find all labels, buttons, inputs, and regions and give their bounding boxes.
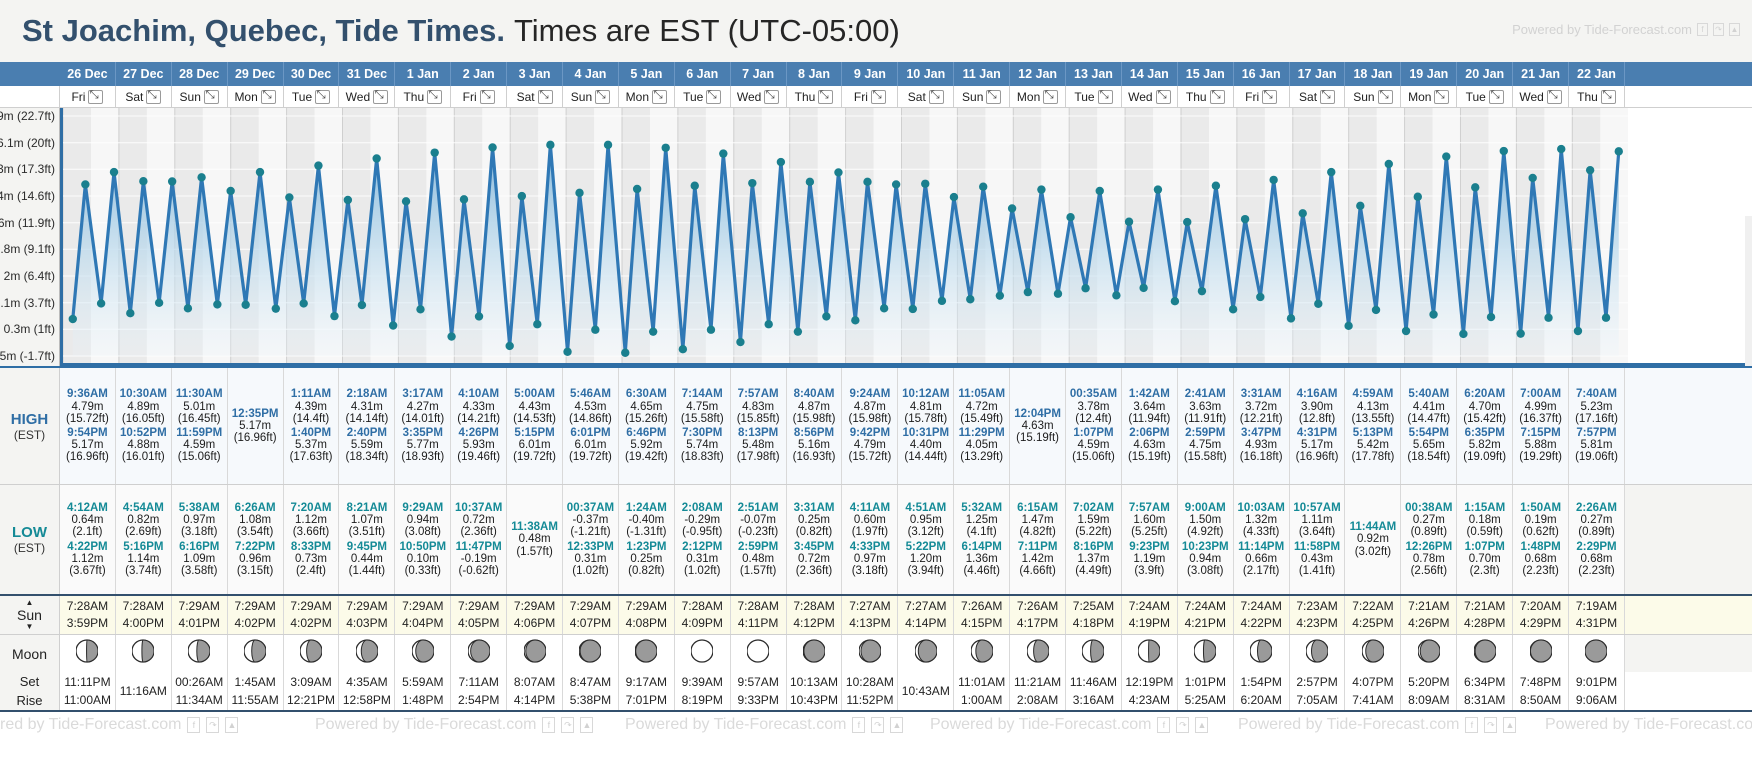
moonrise-time: 7:41AM (1352, 691, 1393, 709)
sun-times-cell: 7:21AM4:26PM (1401, 596, 1457, 634)
date-header-cell[interactable]: 21 Jan (1513, 62, 1569, 86)
date-header-cell[interactable]: 12 Jan (1010, 62, 1066, 86)
low-tide-label: LOW (12, 524, 47, 541)
low-tide-time: 3:31AM (794, 502, 835, 514)
alert-icon[interactable]: ▲ (1195, 717, 1208, 733)
low-tide-height-ft: (0.89ft) (1411, 526, 1447, 538)
date-header-cell[interactable]: 2 Jan (451, 62, 507, 86)
sunrise-time: 7:29AM (514, 598, 555, 615)
low-tide-height-m: 0.94m (407, 514, 439, 526)
date-header-cell[interactable]: 31 Dec (339, 62, 395, 86)
high-tide-height-m: 5.65m (1413, 439, 1445, 451)
high-tide-height-m: 5.82m (1469, 439, 1501, 451)
expand-icon[interactable] (146, 90, 161, 104)
high-tide-cell: 7:57AM4.83m(15.85ft)8:13PM5.48m(17.98ft) (731, 368, 787, 484)
sunset-time: 4:13PM (849, 615, 890, 632)
low-tide-time: 4:54AM (123, 502, 164, 514)
moonrise-time: 10:43PM (790, 691, 838, 709)
expand-icon[interactable] (1547, 90, 1562, 104)
facebook-icon[interactable]: f (1157, 717, 1170, 733)
set-rise-row-labels: Set Rise (0, 672, 60, 710)
high-tide-time: 7:30PM (682, 427, 722, 439)
day-of-week-cell: Tue (284, 86, 340, 107)
share-icon[interactable]: ↷ (871, 717, 884, 733)
moon-phase-icon (691, 638, 713, 669)
low-tide-event: 6:14PM1.36m(4.46ft) (962, 540, 1002, 579)
day-of-week-cell: Fri (1234, 86, 1290, 107)
sunset-time: 4:28PM (1464, 615, 1505, 632)
expand-icon[interactable] (818, 90, 833, 104)
moonrise-time: 8:09AM (1408, 691, 1449, 709)
y-axis-tick-label: 5.3m (17.3ft) (0, 162, 55, 176)
footer-watermark: Powered by Tide-Forecast.com f ↷ ▲ (625, 716, 903, 734)
high-tide-event: 3:47PM4.93m(16.18ft) (1240, 426, 1283, 465)
high-tide-event: 11:05AM4.72m(15.49ft) (958, 387, 1005, 426)
high-tide-height-m: 3.90m (1301, 401, 1333, 413)
share-icon[interactable]: ↷ (1176, 717, 1189, 733)
date-header-cell[interactable]: 30 Dec (284, 62, 340, 86)
high-tide-height-m: 4.39m (295, 401, 327, 413)
moon-phase-cell (731, 635, 787, 672)
high-tide-height-ft: (19.06ft) (1575, 451, 1618, 463)
low-tide-height-ft: (3.02ft) (1355, 546, 1391, 558)
low-tide-time: 6:16PM (179, 541, 219, 553)
low-tide-height-ft: (2.3ft) (1470, 565, 1500, 577)
sunrise-arrow-icon (26, 599, 34, 607)
high-tide-time: 12:04PM (1014, 408, 1061, 420)
expand-icon[interactable] (480, 90, 495, 104)
moonset-time: 5:59AM (402, 673, 443, 691)
y-axis-tick-label: 4.4m (14.6ft) (0, 189, 55, 203)
low-tide-time: 2:08AM (682, 502, 723, 514)
moon-phase-icon (244, 638, 266, 669)
low-tide-event: 00:37AM-0.37m(-1.21ft) (567, 501, 614, 540)
day-of-week-label: Thu (403, 90, 424, 104)
sun-times-cell: 7:25AM4:18PM (1066, 596, 1122, 634)
facebook-icon[interactable]: f (542, 717, 555, 733)
facebook-icon[interactable]: f (1697, 23, 1708, 36)
expand-icon[interactable] (261, 90, 276, 104)
day-of-week-cell: Sat (507, 86, 563, 107)
low-tide-height-m: 0.72m (463, 514, 495, 526)
moon-phase-cell (1569, 635, 1625, 672)
moon-phase-cell (1122, 635, 1178, 672)
moon-label: Moon (12, 646, 47, 662)
sunrise-time: 7:26AM (1017, 598, 1058, 615)
moon-phase-icon (300, 638, 322, 669)
expand-icon[interactable] (1262, 90, 1277, 104)
moonrise-time: 11:34AM (176, 691, 223, 709)
day-of-week-label: Sun (180, 90, 201, 104)
moon-phase-cell (619, 635, 675, 672)
high-tide-time: 9:36AM (67, 388, 108, 400)
low-tide-height-m: 0.95m (910, 514, 942, 526)
day-of-week-label: Wed (737, 90, 761, 104)
date-header-cell[interactable]: 15 Jan (1178, 62, 1234, 86)
sunset-time: 4:21PM (1185, 615, 1226, 632)
high-tide-height-m: 4.05m (966, 439, 998, 451)
high-tide-time: 10:31PM (902, 427, 949, 439)
moon-phase-cell (395, 635, 451, 672)
moon-phase-icon (1027, 638, 1049, 669)
day-of-week-cell: Wed (1122, 86, 1178, 107)
low-tide-event: 00:38AM0.27m(0.89ft) (1405, 501, 1452, 540)
expand-icon[interactable] (204, 90, 219, 104)
share-icon[interactable]: ↷ (1484, 717, 1497, 733)
moon-phase-icon (188, 638, 210, 669)
low-tide-height-m: 1.12m (71, 553, 103, 565)
high-tide-time: 2:41AM (1185, 388, 1226, 400)
day-of-week-cell: Thu (1178, 86, 1234, 107)
low-tide-cell: 6:15AM1.47m(4.82ft)7:11PM1.42m(4.66ft) (1010, 485, 1066, 594)
low-tide-event: 10:23PM0.94m(3.08ft) (1182, 540, 1229, 579)
low-tide-height-ft: (3.66ft) (293, 526, 329, 538)
high-tide-height-m: 4.75m (686, 401, 718, 413)
sunrise-time: 7:29AM (234, 598, 275, 615)
low-tide-height-m: 0.48m (742, 553, 774, 565)
low-tide-height-ft: (2.23ft) (1578, 565, 1614, 577)
low-tide-event: 11:44AM0.92m(3.02ft) (1350, 520, 1397, 559)
date-header-cell[interactable]: 14 Jan (1122, 62, 1178, 86)
low-tide-time: 11:58PM (1294, 541, 1340, 553)
sunset-time: 4:15PM (961, 615, 1002, 632)
high-tide-height-ft: (16.96ft) (234, 432, 277, 444)
low-tide-cell: 10:37AM0.72m(2.36ft)11:47PM-0.19m(-0.62f… (451, 485, 507, 594)
date-header-cell[interactable]: 10 Jan (898, 62, 954, 86)
alert-icon[interactable]: ▲ (225, 717, 238, 733)
moon-set-rise-cell: 1:01PM5:25AM (1178, 672, 1234, 710)
expand-icon[interactable] (652, 90, 667, 104)
expand-icon[interactable] (764, 90, 779, 104)
sunset-time: 4:12PM (793, 615, 834, 632)
low-tide-time: 10:50PM (399, 541, 446, 553)
high-tide-height-m: 4.63m (1133, 439, 1165, 451)
date-header-cell[interactable]: 1 Jan (395, 62, 451, 86)
moonrise-time: 11:55AM (232, 691, 279, 709)
high-tide-height-ft: (16.93ft) (793, 451, 836, 463)
low-tide-cell: 3:31AM0.25m(0.82ft)3:45PM0.72m(2.36ft) (787, 485, 843, 594)
date-header-cell[interactable]: 17 Jan (1290, 62, 1346, 86)
share-icon[interactable]: ↷ (561, 717, 574, 733)
moon-set-rise-cell: 11:11PM11:00AM (60, 672, 116, 710)
date-header-cell[interactable]: 9 Jan (842, 62, 898, 86)
low-tide-event: 10:03AM1.32m(4.33ft) (1237, 501, 1284, 540)
high-tide-time: 5:00AM (514, 388, 555, 400)
low-tide-event: 6:26AM1.08m(3.54ft) (235, 501, 276, 540)
date-header-cell[interactable]: 16 Jan (1234, 62, 1290, 86)
day-of-week-cell: Thu (395, 86, 451, 107)
high-tide-height-ft: (19.72ft) (513, 451, 556, 463)
high-tide-height-ft: (17.78ft) (1352, 451, 1395, 463)
facebook-icon[interactable]: f (187, 717, 200, 733)
low-tide-event: 7:02AM1.59m(5.22ft) (1073, 501, 1114, 540)
sunrise-time: 7:27AM (849, 598, 890, 615)
sunrise-time: 7:23AM (1296, 598, 1337, 615)
day-of-week-label: Sat (908, 90, 926, 104)
moonrise-label: Rise (16, 691, 42, 711)
date-header-cell[interactable]: 18 Jan (1345, 62, 1401, 86)
low-tide-event: 6:16PM1.09m(3.58ft) (179, 540, 219, 579)
alert-icon[interactable]: ▲ (1503, 717, 1516, 733)
high-tide-height-ft: (15.19ft) (1128, 451, 1171, 463)
date-header-cell[interactable]: 27 Dec (116, 62, 172, 86)
high-tide-height-m: 4.70m (1469, 401, 1501, 413)
low-tide-height-m: 0.72m (798, 553, 830, 565)
day-of-week-cell: Mon (1401, 86, 1457, 107)
low-tide-height-m: 0.96m (239, 553, 271, 565)
moonset-time: 6:34PM (1464, 673, 1505, 691)
high-tide-height-m: 5.93m (463, 439, 495, 451)
tide-plot-area[interactable] (60, 108, 1752, 366)
low-tide-cell: 2:51AM-0.07m(-0.23ft)2:59PM0.48m(1.57ft) (731, 485, 787, 594)
high-tide-section: HIGH (EST) 9:36AM4.79m(15.72ft)9:54PM5.1… (0, 366, 1752, 484)
low-tide-height-ft: (0.82ft) (796, 526, 832, 538)
expand-icon[interactable] (1601, 90, 1616, 104)
expand-icon[interactable] (427, 90, 442, 104)
expand-icon[interactable] (538, 90, 553, 104)
moon-set-rise-cell: 12:19PM4:23AM (1122, 672, 1178, 710)
expand-icon[interactable] (1043, 90, 1058, 104)
high-tide-time: 1:11AM (291, 388, 331, 400)
high-tide-event: 3:31AM3.72m(12.21ft) (1240, 387, 1283, 426)
high-tide-time: 4:26PM (459, 427, 499, 439)
y-axis-tick-label: -0.5m (-1.7ft) (0, 349, 55, 363)
high-tide-cell: 7:14AM4.75m(15.58ft)7:30PM5.74m(18.83ft) (675, 368, 731, 484)
low-tide-time: 4:12AM (67, 502, 108, 514)
expand-icon[interactable] (1434, 90, 1449, 104)
high-tide-event: 2:18AM4.31m(14.14ft) (345, 387, 388, 426)
low-tide-event: 4:22PM1.12m(3.67ft) (67, 540, 107, 579)
facebook-icon[interactable]: f (1465, 717, 1478, 733)
sun-times-cell: 7:29AM4:08PM (619, 596, 675, 634)
facebook-icon[interactable]: f (852, 717, 865, 733)
low-tide-time: 6:26AM (235, 502, 276, 514)
moon-phase-cell (339, 635, 395, 672)
date-header-cell[interactable]: 28 Dec (172, 62, 228, 86)
y-axis-tick-label: 0.3m (1ft) (4, 322, 55, 336)
expand-icon[interactable] (986, 90, 1001, 104)
moon-set-rise-cell: 1:54PM6:20AM (1234, 672, 1290, 710)
high-tide-event: 10:52PM4.88m(16.01ft) (120, 426, 167, 465)
high-tide-height-ft: (13.55ft) (1352, 413, 1395, 425)
sunset-time: 4:01PM (179, 615, 220, 632)
low-tide-event: 2:51AM-0.07m(-0.23ft) (738, 501, 779, 540)
date-header-cell[interactable]: 5 Jan (619, 62, 675, 86)
low-tide-height-m: 0.60m (854, 514, 886, 526)
high-tide-time: 1:40PM (291, 427, 331, 439)
date-header-cell[interactable]: 3 Jan (507, 62, 563, 86)
share-icon[interactable]: ↷ (206, 717, 219, 733)
low-tide-height-ft: (2.36ft) (460, 526, 496, 538)
low-tide-height-ft: (3.51ft) (349, 526, 385, 538)
moon-set-rise-cell: 4:07PM7:41AM (1345, 672, 1401, 710)
low-tide-cell: 6:26AM1.08m(3.54ft)7:22PM0.96m(3.15ft) (228, 485, 284, 594)
expand-icon[interactable] (871, 90, 886, 104)
sunrise-time: 7:28AM (123, 598, 164, 615)
low-tide-height-m: 0.19m (1525, 514, 1557, 526)
share-icon[interactable]: ↷ (1713, 23, 1724, 36)
high-tide-event: 7:30PM5.74m(18.83ft) (681, 426, 724, 465)
moon-set-rise-cell: 4:35AM12:58PM (339, 672, 395, 710)
date-header-cell[interactable]: 7 Jan (731, 62, 787, 86)
footer-watermark: Powered by Tide-Forecast.com f ↷ ▲ (0, 716, 238, 734)
alert-icon[interactable]: ▲ (1729, 23, 1740, 36)
expand-icon[interactable] (929, 90, 944, 104)
low-tide-height-m: 0.78m (1413, 553, 1445, 565)
low-tide-cell: 5:38AM0.97m(3.18ft)6:16PM1.09m(3.58ft) (172, 485, 228, 594)
moonrise-time: 8:31AM (1464, 691, 1505, 709)
moonset-time: 11:21AM (1014, 673, 1061, 691)
high-tide-cell: 12:35PM5.17m(16.96ft) (228, 368, 284, 484)
low-tide-cell: 4:12AM0.64m(2.1ft)4:22PM1.12m(3.67ft) (60, 485, 116, 594)
high-tide-height-ft: (14.01ft) (401, 413, 444, 425)
high-tide-time: 2:59PM (1185, 427, 1225, 439)
moon-phase-cell (507, 635, 563, 672)
expand-icon[interactable] (1098, 90, 1113, 104)
low-tide-cell: 7:20AM1.12m(3.66ft)8:33PM0.73m(2.4ft) (284, 485, 340, 594)
high-tide-time: 10:52PM (120, 427, 167, 439)
high-tide-event: 7:57PM5.81m(19.06ft) (1575, 426, 1618, 465)
alert-icon[interactable]: ▲ (890, 717, 903, 733)
sunrise-time: 7:19AM (1576, 598, 1617, 615)
high-tide-event: 11:29PM4.05m(13.29ft) (959, 426, 1005, 465)
moon-phase-icon (1362, 638, 1384, 669)
expand-icon[interactable] (1378, 90, 1393, 104)
low-tide-height-m: -0.07m (740, 514, 776, 526)
high-tide-event: 10:12AM4.81m(15.78ft) (902, 387, 949, 426)
y-axis-tick-label: 6.9m (22.7ft) (0, 109, 55, 123)
low-tide-cell: 1:50AM0.19m(0.62ft)1:48PM0.68m(2.23ft) (1513, 485, 1569, 594)
high-tide-event: 9:36AM4.79m(15.72ft) (66, 387, 109, 426)
sunset-time: 4:29PM (1520, 615, 1561, 632)
low-tide-time: 10:37AM (455, 502, 502, 514)
moonset-time: 11:11PM (64, 673, 110, 691)
sunrise-time: 7:29AM (179, 598, 220, 615)
moonset-time: 2:57PM (1296, 673, 1337, 691)
moon-phase-icon (1082, 638, 1104, 669)
expand-icon[interactable] (88, 90, 103, 104)
sun-times-cell: 7:19AM4:31PM (1569, 596, 1625, 634)
sunrise-time: 7:25AM (1073, 598, 1114, 615)
low-tide-cell: 9:00AM1.50m(4.92ft)10:23PM0.94m(3.08ft) (1178, 485, 1234, 594)
date-header-cell[interactable]: 13 Jan (1066, 62, 1122, 86)
low-tide-height-m: 1.20m (910, 553, 942, 565)
high-tide-event: 5:00AM4.43m(14.53ft) (513, 387, 556, 426)
low-tide-time: 1:15AM (1464, 502, 1505, 514)
high-tide-height-ft: (19.29ft) (1519, 451, 1562, 463)
day-of-week-label: Sun (571, 90, 592, 104)
high-tide-time: 11:05AM (958, 388, 1005, 400)
high-tide-height-m: 5.88m (1525, 439, 1557, 451)
expand-icon[interactable] (1210, 90, 1225, 104)
moon-phase-icon (971, 638, 993, 669)
sun-times-cell: 7:29AM4:03PM (339, 596, 395, 634)
moonset-time: 1:45AM (234, 673, 275, 691)
low-tide-time: 10:57AM (1293, 502, 1340, 514)
day-of-week-cell: Mon (619, 86, 675, 107)
high-tide-height-m: 5.77m (407, 439, 439, 451)
day-of-week-label: Tue (1074, 90, 1094, 104)
date-header-cell[interactable]: 29 Dec (228, 62, 284, 86)
date-header-cell[interactable]: 19 Jan (1401, 62, 1457, 86)
high-tide-height-m: 5.59m (351, 439, 383, 451)
expand-icon[interactable] (373, 90, 388, 104)
high-tide-height-ft: (16.37ft) (1519, 413, 1562, 425)
day-of-week-cell: Tue (1457, 86, 1513, 107)
high-tide-event: 3:35PM5.77m(18.93ft) (401, 426, 444, 465)
sun-times-cell: 7:29AM4:02PM (228, 596, 284, 634)
moon-phase-icon (915, 638, 937, 669)
date-header-cell[interactable]: 8 Jan (787, 62, 843, 86)
low-tide-event: 7:57AM1.60m(5.25ft) (1129, 501, 1170, 540)
expand-icon[interactable] (1489, 90, 1504, 104)
high-tide-cell: 7:40AM5.23m(17.16ft)7:57PM5.81m(19.06ft) (1569, 368, 1625, 484)
sun-times-cell: 7:24AM4:22PM (1234, 596, 1290, 634)
expand-icon[interactable] (1156, 90, 1171, 104)
date-header-cell[interactable]: 6 Jan (675, 62, 731, 86)
moon-phase-cell (954, 635, 1010, 672)
moonset-time: 3:09AM (290, 673, 331, 691)
low-tide-height-ft: (0.33ft) (405, 565, 441, 577)
high-tide-time: 9:54PM (67, 427, 107, 439)
low-tide-event: 5:32AM1.25m(4.1ft) (961, 501, 1002, 540)
high-tide-height-m: 4.75m (1189, 439, 1221, 451)
alert-icon[interactable]: ▲ (580, 717, 593, 733)
day-of-week-cell: Mon (1010, 86, 1066, 107)
moon-phase-cell (898, 635, 954, 672)
low-tide-height-ft: (2.17ft) (1243, 565, 1279, 577)
high-tide-height-ft: (12.21ft) (1240, 413, 1283, 425)
sunrise-time: 7:29AM (458, 598, 499, 615)
high-tide-time: 00:35AM (1070, 388, 1117, 400)
moon-set-rise-cell: 10:13AM10:43PM (787, 672, 843, 710)
high-tide-time: 12:35PM (232, 408, 279, 420)
high-tide-time: 2:18AM (346, 388, 387, 400)
high-tide-event: 6:20AM4.70m(15.42ft) (1463, 387, 1506, 426)
low-tide-event: 2:12PM0.31m(1.02ft) (682, 540, 722, 579)
date-header-cell[interactable]: 26 Dec (60, 62, 116, 86)
date-header-cell[interactable]: 22 Jan (1569, 62, 1625, 86)
moonrise-time: 11:52PM (846, 691, 893, 709)
low-tide-height-ft: (1.44ft) (349, 565, 385, 577)
expand-icon[interactable] (706, 90, 721, 104)
date-header-cell[interactable]: 20 Jan (1457, 62, 1513, 86)
moonset-time: 5:20PM (1408, 673, 1449, 691)
date-header-cell[interactable]: 11 Jan (954, 62, 1010, 86)
moon-phase-cell (172, 635, 228, 672)
high-tide-time: 6:35PM (1465, 427, 1505, 439)
low-tide-time: 7:20AM (291, 502, 332, 514)
high-tide-height-m: 4.13m (1357, 401, 1389, 413)
sunrise-time: 7:22AM (1352, 598, 1393, 615)
low-tide-height-ft: (2.4ft) (296, 565, 326, 577)
low-tide-height-m: 0.70m (1469, 553, 1501, 565)
expand-icon[interactable] (315, 90, 330, 104)
day-of-week-label: Wed (1128, 90, 1152, 104)
high-tide-time: 7:57PM (1576, 427, 1616, 439)
low-tide-event: 9:00AM1.50m(4.92ft) (1185, 501, 1226, 540)
low-tide-height-m: 0.27m (1581, 514, 1613, 526)
moonset-time: 1:54PM (1240, 673, 1281, 691)
expand-icon[interactable] (595, 90, 610, 104)
expand-icon[interactable] (1320, 90, 1335, 104)
high-tide-height-m: 5.74m (686, 439, 718, 451)
moonrise-time: 5:25AM (1185, 691, 1226, 709)
low-tide-cell: 2:08AM-0.29m(-0.95ft)2:12PM0.31m(1.02ft) (675, 485, 731, 594)
low-tide-height-ft: (0.62ft) (1522, 526, 1558, 538)
day-of-week-cell: Fri (451, 86, 507, 107)
date-header-cell[interactable]: 4 Jan (563, 62, 619, 86)
